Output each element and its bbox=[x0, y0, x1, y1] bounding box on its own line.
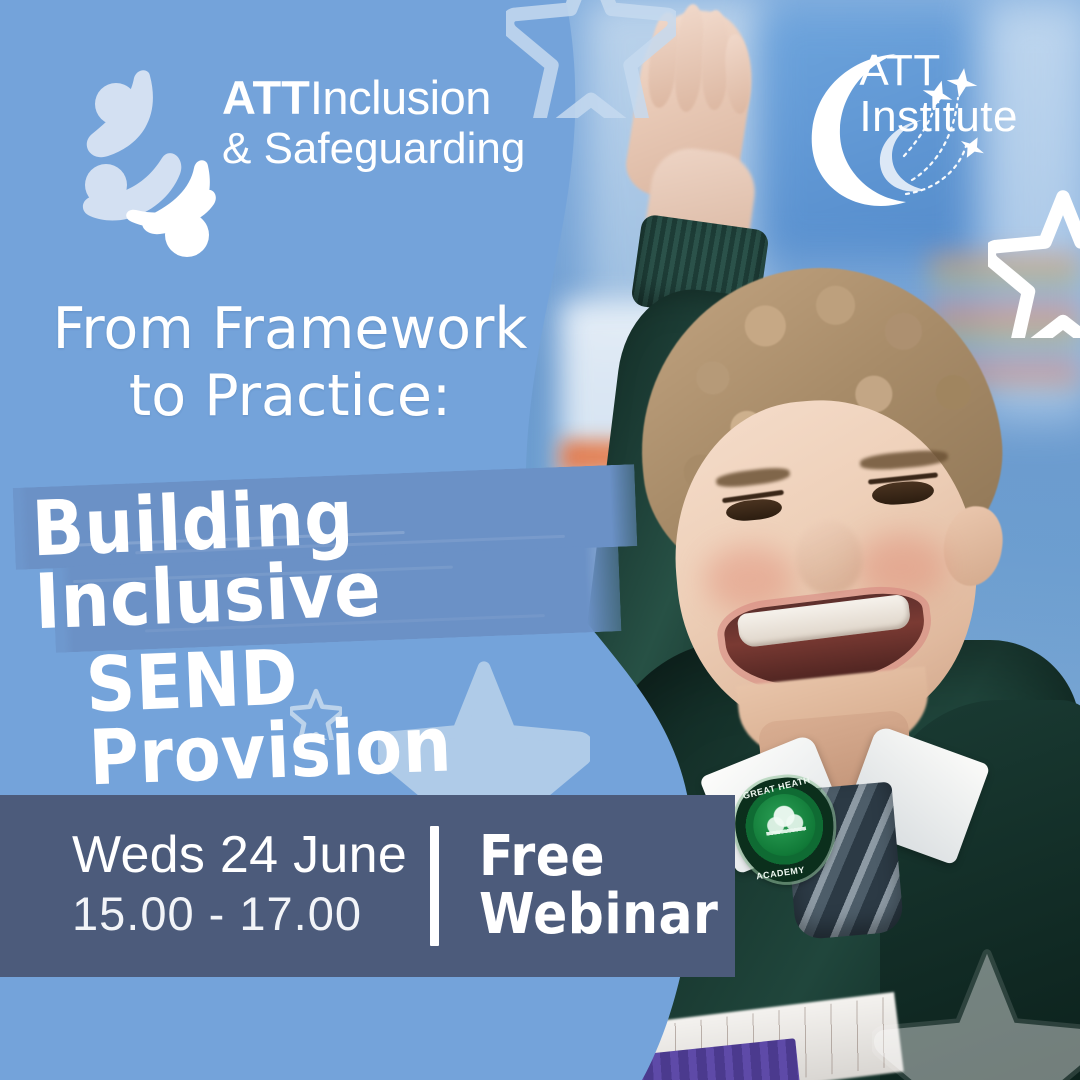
headline-kicker-line2: to Practice: bbox=[40, 363, 540, 430]
vertical-divider bbox=[430, 826, 439, 946]
headline-title: Building Inclusive SEND Provision bbox=[0, 457, 666, 798]
headline-kicker-line1: From Framework bbox=[53, 296, 528, 362]
three-people-swoosh-icon bbox=[74, 70, 224, 260]
headline-title-line1: Building Inclusive bbox=[0, 457, 660, 640]
event-type-group: Free Webinar bbox=[479, 828, 718, 944]
child-cheek bbox=[856, 534, 946, 600]
att-inclusion-safeguarding-logo[interactable]: ATTInclusion & Safeguarding bbox=[74, 56, 494, 256]
logo-inclusion-text: Inclusion bbox=[310, 71, 491, 124]
logo-right-line2: Institute bbox=[859, 94, 1018, 140]
headline-kicker: From Framework to Practice: bbox=[40, 296, 540, 429]
webinar-promo-graphic: GREAT HEATH ACADEMY bbox=[0, 0, 1080, 1080]
event-datetime-group: Weds 24 June 15.00 - 17.00 bbox=[0, 828, 430, 944]
logo-left-line2: & Safeguarding bbox=[222, 127, 522, 171]
logo-right-line1: ATT bbox=[859, 48, 1018, 94]
event-type-line1: Free bbox=[479, 828, 718, 886]
event-type-line2: Webinar bbox=[479, 886, 718, 944]
star-outline-top-icon bbox=[506, 0, 676, 118]
school-badge-bottom-text: ACADEMY bbox=[755, 865, 805, 882]
child-cheek bbox=[704, 546, 794, 612]
event-date: Weds 24 June bbox=[72, 828, 430, 883]
event-time: 15.00 - 17.00 bbox=[72, 883, 430, 944]
star-overlay-bottom-right-icon bbox=[872, 940, 1080, 1080]
school-badge: GREAT HEATH ACADEMY bbox=[729, 772, 841, 889]
logo-att-text: ATT bbox=[222, 71, 310, 124]
logo-left-line1: ATTInclusion bbox=[222, 74, 522, 121]
headline-title-line2: SEND Provision bbox=[0, 615, 666, 798]
att-institute-logo[interactable]: ATT Institute bbox=[786, 24, 1046, 214]
headline-title-block: Building Inclusive SEND Provision bbox=[0, 470, 660, 660]
event-info-bar: Weds 24 June 15.00 - 17.00 Free Webinar bbox=[0, 795, 735, 977]
